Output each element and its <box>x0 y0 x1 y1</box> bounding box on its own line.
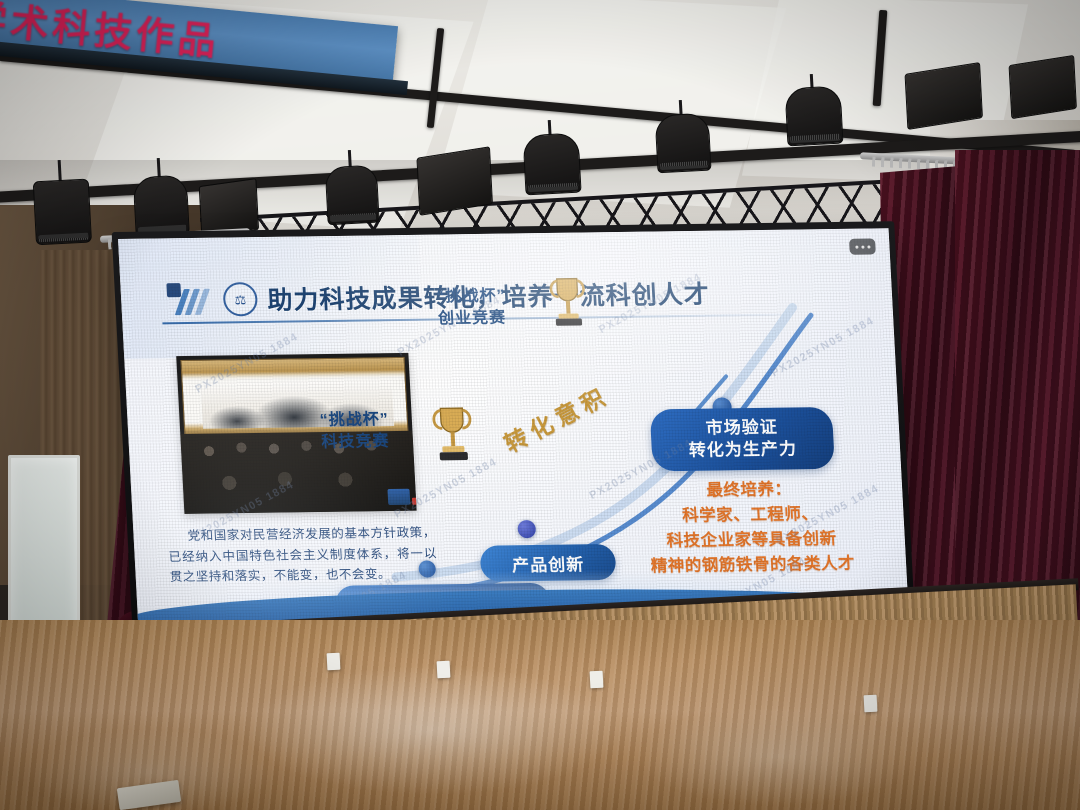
competition-label-entrepreneurship: “挑战杯” 创业竞赛 <box>436 286 507 330</box>
comp-quote-2: “挑战杯” <box>319 409 389 432</box>
stage-light-8 <box>780 72 846 159</box>
outcome-heading: 最终培养： <box>623 476 874 505</box>
comp-quote-1: “挑战杯” <box>436 286 506 309</box>
trophy-icon-entrepreneurship <box>544 272 591 337</box>
slash-graphic-icon <box>166 283 214 318</box>
stage-light-9 <box>904 56 984 146</box>
stage-light-10 <box>1008 50 1078 133</box>
emblem-glyph: ⚖ <box>234 293 246 306</box>
photograph-of-auditorium-stage: 学术科技作品 ⚖ 助力科技成果转化， <box>0 0 1080 810</box>
competition-label-technology: “挑战杯” 科技竞赛 <box>319 409 390 453</box>
stage-light-5 <box>416 140 495 234</box>
trophy-icon-technology <box>427 402 479 473</box>
paper-marker-1 <box>327 653 341 671</box>
comp-name-2: 科技竞赛 <box>320 431 390 454</box>
stage-pill-market[interactable]: 市场验证 转化为生产力 <box>650 407 835 471</box>
outcome-line-1: 科学家、工程师、 <box>625 501 876 530</box>
university-emblem-icon: ⚖ <box>222 282 258 316</box>
stage-light-4 <box>320 149 382 234</box>
stage-pill-market-line2: 转化为生产力 <box>688 438 797 462</box>
more-dots-icon[interactable] <box>849 238 876 254</box>
paper-marker-3 <box>590 671 604 689</box>
paper-marker-4 <box>864 695 878 713</box>
paper-marker-2 <box>437 661 451 679</box>
stage-light-1 <box>28 158 95 251</box>
stage-pill-market-line1: 市场验证 <box>705 417 778 440</box>
comp-name-1: 创业竞赛 <box>437 307 507 330</box>
stage-light-6 <box>518 118 584 207</box>
curve-node-2 <box>517 520 536 538</box>
stage-light-7 <box>650 98 714 185</box>
